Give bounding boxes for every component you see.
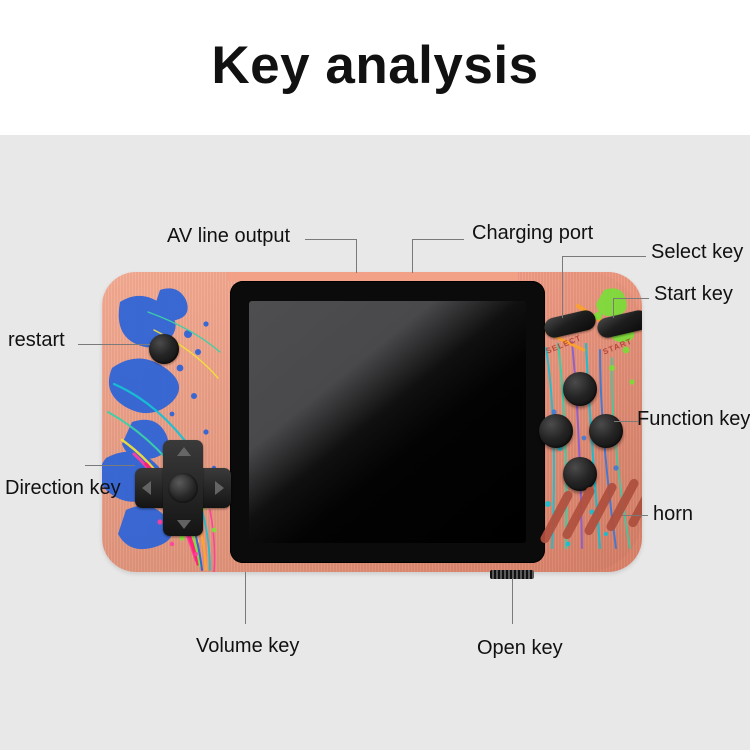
leader-line-volume-key (245, 572, 246, 624)
leader-line-select-key-h (562, 256, 646, 257)
lcd-screen-bezel (230, 281, 545, 563)
callout-label-restart: restart (8, 329, 65, 352)
leader-line-open-key (512, 578, 513, 624)
callout-label-direction-key: Direction key (5, 477, 121, 500)
leader-line-av-line-output-v (356, 239, 357, 273)
callout-label-horn: horn (653, 503, 693, 526)
callout-label-volume-key: Volume key (196, 635, 299, 658)
dpad-left-arrow-icon (142, 481, 151, 495)
leader-line-av-line-output-h (305, 239, 357, 240)
leader-line-function-key (614, 421, 638, 422)
select-key-button[interactable] (542, 308, 597, 339)
page-stage: Key analysis (0, 0, 750, 750)
callout-label-charging-port: Charging port (472, 222, 593, 245)
callout-label-av-line-output: AV line output (167, 225, 290, 248)
page-title: Key analysis (0, 38, 750, 94)
lcd-screen (249, 301, 526, 543)
handheld-console-body: SELECT START (102, 272, 642, 572)
callout-label-open-key: Open key (477, 637, 563, 660)
function-key-button-right[interactable] (589, 414, 623, 448)
horn-speaker-grille (550, 484, 642, 544)
dpad-up-arrow-icon (177, 447, 191, 456)
leader-line-select-key-v (562, 256, 563, 318)
callout-label-select-key: Select key (651, 241, 743, 264)
leader-line-restart (78, 344, 150, 345)
leader-line-charging-port-v (412, 239, 413, 273)
leader-line-direction-key (85, 465, 135, 466)
dpad-center-hub (168, 473, 198, 503)
function-key-button-top[interactable] (563, 372, 597, 406)
callout-label-start-key: Start key (654, 283, 733, 306)
function-key-button-left[interactable] (539, 414, 573, 448)
leader-line-charging-port-h (412, 239, 464, 240)
leader-line-start-key-h (613, 298, 649, 299)
direction-key-dpad[interactable] (135, 440, 231, 536)
start-key-button[interactable] (595, 308, 642, 339)
dpad-right-arrow-icon (215, 481, 224, 495)
start-key-caption: START (601, 337, 633, 357)
restart-button[interactable] (149, 334, 179, 364)
leader-line-horn (622, 515, 648, 516)
leader-line-start-key-v (613, 298, 614, 318)
console-top-notch (228, 272, 518, 281)
callout-label-function-key: Function key (637, 408, 750, 431)
dpad-down-arrow-icon (177, 520, 191, 529)
